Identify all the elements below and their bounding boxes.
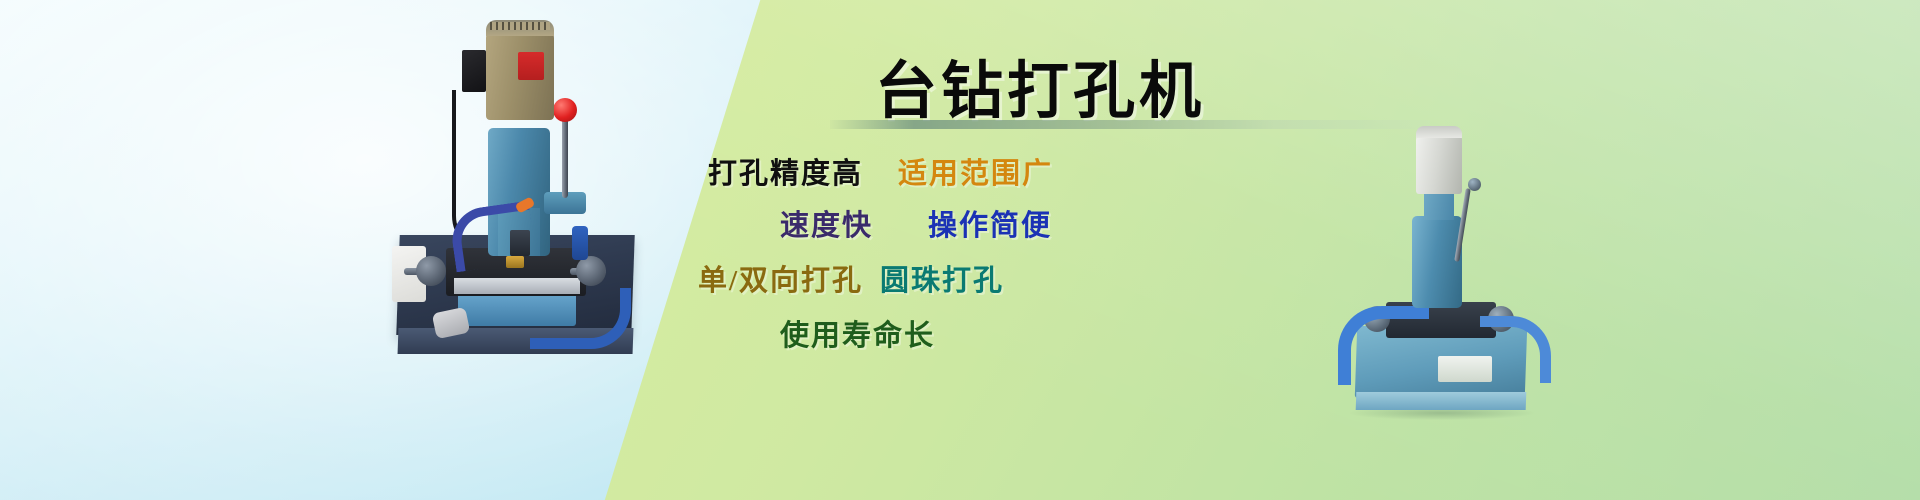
drill-spindle-housing-small	[1424, 190, 1454, 220]
feature-item-3: 速度快	[780, 202, 873, 244]
feature-item-5: 单/双向打孔	[698, 257, 863, 299]
feature-list: 打孔精度高 适用范围广 速度快 操作简便 单/双向打孔 圆珠打孔 使用寿命长	[680, 140, 1300, 390]
feature-item-7: 使用寿命长	[780, 312, 935, 354]
machine-base-front-small	[1356, 392, 1527, 410]
feed-lever-knob-small	[1468, 178, 1481, 191]
feed-lever-rod	[562, 118, 568, 198]
feature-item-1: 打孔精度高	[708, 150, 863, 192]
blue-tube	[572, 226, 588, 260]
motor-housing-small	[1416, 132, 1462, 194]
handwheel-right	[576, 256, 606, 286]
feature-item-6: 圆珠打孔	[880, 257, 1004, 299]
drill-column-small	[1412, 216, 1462, 308]
coolant-hose-blue	[530, 288, 631, 349]
feed-lever-knob	[553, 98, 577, 122]
coolant-hose-blue-small	[1338, 306, 1429, 385]
left-product-image	[380, 10, 650, 370]
right-product-image	[1330, 120, 1540, 420]
feature-item-2: 适用范围广	[898, 150, 1053, 192]
feature-item-4: 操作简便	[928, 202, 1052, 244]
product-banner: 台钻打孔机 打孔精度高 适用范围广 速度快 操作简便 单/双向打孔 圆珠打孔 使…	[0, 0, 1920, 500]
motor-nameplate	[518, 52, 544, 80]
page-title: 台钻打孔机	[760, 40, 1320, 130]
motor-vents	[490, 22, 550, 30]
handwheel-left	[416, 256, 446, 286]
switch-box	[462, 50, 486, 92]
motor-cap-small	[1416, 126, 1462, 138]
